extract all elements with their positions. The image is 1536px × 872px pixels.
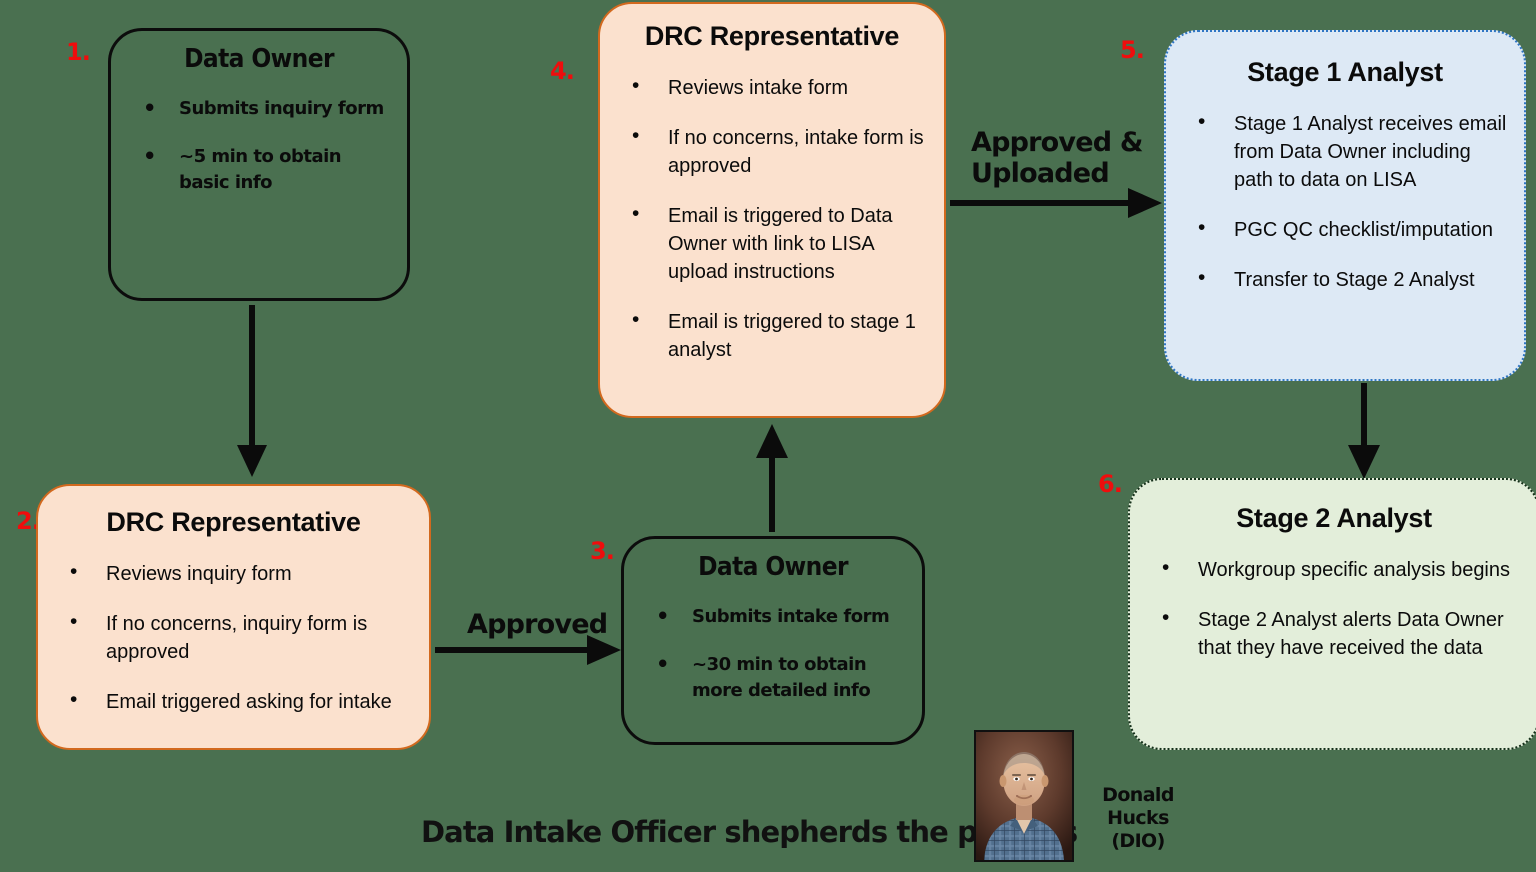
bullet-item: If no concerns, intake form is approved — [614, 124, 930, 180]
bullet-item: Email is triggered to Data Owner with li… — [614, 202, 930, 286]
bullet-item: ~30 min to obtain more detailed info — [638, 652, 908, 704]
process-box-drc-representative-2[interactable]: DRC Representative Reviews inquiry form … — [36, 484, 431, 750]
bullet-item: ~5 min to obtain basic info — [125, 144, 393, 196]
bullet-item: Transfer to Stage 2 Analyst — [1180, 266, 1510, 294]
bullet-item: Submits inquiry form — [125, 96, 393, 122]
bullet-list-2: Reviews inquiry form If no concerns, inq… — [52, 560, 415, 716]
arrow-step3-to-step4 — [752, 420, 792, 535]
bullet-item: Email triggered asking for intake — [52, 688, 415, 716]
bullet-item: Stage 1 Analyst receives email from Data… — [1180, 110, 1510, 194]
bullet-item: Submits intake form — [638, 604, 908, 630]
box-title-6: Stage 2 Analyst — [1144, 504, 1524, 534]
bullet-list-4: Reviews intake form If no concerns, inta… — [614, 74, 930, 364]
step-number-4: 4. — [550, 57, 574, 85]
process-box-stage-2-analyst-6[interactable]: Stage 2 Analyst Workgroup specific analy… — [1128, 478, 1536, 750]
arrow-step5-to-step6 — [1344, 383, 1384, 483]
diagram-canvas: 1. Data Owner Submits inquiry form ~5 mi… — [0, 0, 1536, 872]
process-box-data-owner-1[interactable]: Data Owner Submits inquiry form ~5 min t… — [108, 28, 410, 301]
box-title-2: DRC Representative — [52, 508, 415, 538]
portrait-photo — [974, 730, 1074, 862]
bullet-item: If no concerns, inquiry form is approved — [52, 610, 415, 666]
process-box-stage-1-analyst-5[interactable]: Stage 1 Analyst Stage 1 Analyst receives… — [1164, 30, 1526, 381]
bullet-item: Email is triggered to stage 1 analyst — [614, 308, 930, 364]
box-title-1: Data Owner — [125, 45, 393, 74]
box-title-3: Data Owner — [638, 553, 908, 582]
arrow-step1-to-step2 — [232, 305, 272, 480]
bullet-list-5: Stage 1 Analyst receives email from Data… — [1180, 110, 1510, 294]
box-title-5: Stage 1 Analyst — [1180, 58, 1510, 88]
step-number-6: 6. — [1098, 470, 1122, 498]
bullet-item: Workgroup specific analysis begins — [1144, 556, 1524, 584]
bullet-item: Stage 2 Analyst alerts Data Owner that t… — [1144, 606, 1524, 662]
bullet-list-1: Submits inquiry form ~5 min to obtain ba… — [125, 96, 393, 196]
bullet-item: Reviews inquiry form — [52, 560, 415, 588]
bullet-item: Reviews intake form — [614, 74, 930, 102]
bullet-list-6: Workgroup specific analysis begins Stage… — [1144, 556, 1524, 662]
box-title-4: DRC Representative — [614, 22, 930, 52]
step-number-5: 5. — [1120, 36, 1144, 64]
bullet-item: PGC QC checklist/imputation — [1180, 216, 1510, 244]
step-number-1: 1. — [66, 38, 90, 66]
process-box-drc-representative-4[interactable]: DRC Representative Reviews intake form I… — [598, 2, 946, 418]
arrow-label-approved-uploaded: Approved & Uploaded — [971, 127, 1151, 189]
process-box-data-owner-3[interactable]: Data Owner Submits intake form ~30 min t… — [621, 536, 925, 745]
arrow-step2-to-step3 — [435, 632, 625, 668]
step-number-3: 3. — [590, 537, 614, 565]
portrait-caption: Donald Hucks (DIO) — [1083, 784, 1193, 854]
bullet-list-3: Submits intake form ~30 min to obtain mo… — [638, 604, 908, 704]
arrow-step4-to-step5 — [950, 185, 1166, 221]
